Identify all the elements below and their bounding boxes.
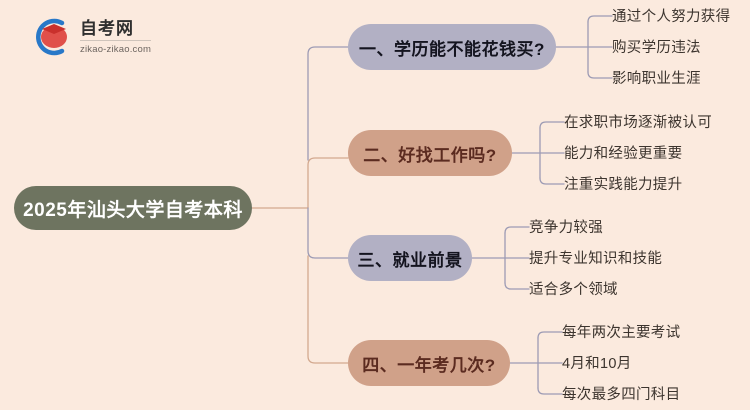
mindmap-leaf-1-1[interactable]: 通过个人努力获得 [612,10,730,25]
connector-branch-1-leaf-1 [588,16,612,22]
connector-trunk-branch-3 [308,208,348,258]
mindmap-leaf-2-3[interactable]: 注重实践能力提升 [564,178,682,193]
mindmap-branch-node-1[interactable]: 一、学历能不能花钱买? [348,24,556,70]
site-logo: 自考网 zikao-zikao.com [28,14,170,60]
connector-branch-4-leaf-3 [538,388,562,394]
mindmap-leaf-2-1[interactable]: 在求职市场逐渐被认可 [564,116,712,131]
mindmap-canvas: 自考网 zikao-zikao.com 2025年汕头大学自考本科 一、学历能不… [0,0,750,410]
connector-trunk-branch-1 [308,47,348,160]
mindmap-leaf-4-1[interactable]: 每年两次主要考试 [562,326,680,341]
mindmap-leaf-4-2[interactable]: 4月和10月 [562,357,632,372]
mindmap-leaf-1-2[interactable]: 购买学历违法 [612,41,701,56]
mindmap-leaf-3-2[interactable]: 提升专业知识和技能 [529,252,662,267]
connector-branch-2-leaf-3 [540,178,564,184]
connector-branch-2-leaf-1 [540,122,564,128]
logo-text: 自考网 zikao-zikao.com [80,20,151,55]
mindmap-branch-node-2[interactable]: 二、好找工作吗? [348,130,512,176]
mindmap-leaf-3-1[interactable]: 竞争力较强 [529,221,603,236]
mindmap-leaf-4-3[interactable]: 每次最多四门科目 [562,388,680,403]
connector-branch-3-leaf-3 [505,283,529,289]
mindmap-branch-node-3[interactable]: 三、就业前景 [348,235,472,281]
connector-branch-3-leaf-1 [505,227,529,233]
mindmap-leaf-1-3[interactable]: 影响职业生涯 [612,72,701,87]
connector-trunk-branch-4 [308,256,348,363]
connector-branch-4-leaf-1 [538,332,562,338]
mindmap-leaf-3-3[interactable]: 适合多个领域 [529,283,618,298]
connector-trunk-branch-2 [308,158,348,208]
mindmap-root-node[interactable]: 2025年汕头大学自考本科 [14,186,252,230]
graduation-cap-icon [28,15,74,59]
mindmap-leaf-2-2[interactable]: 能力和经验更重要 [564,147,682,162]
logo-title: 自考网 [80,20,151,41]
logo-url: zikao-zikao.com [80,45,151,55]
mindmap-branch-node-4[interactable]: 四、一年考几次? [348,340,510,386]
connector-branch-1-leaf-3 [588,72,612,78]
